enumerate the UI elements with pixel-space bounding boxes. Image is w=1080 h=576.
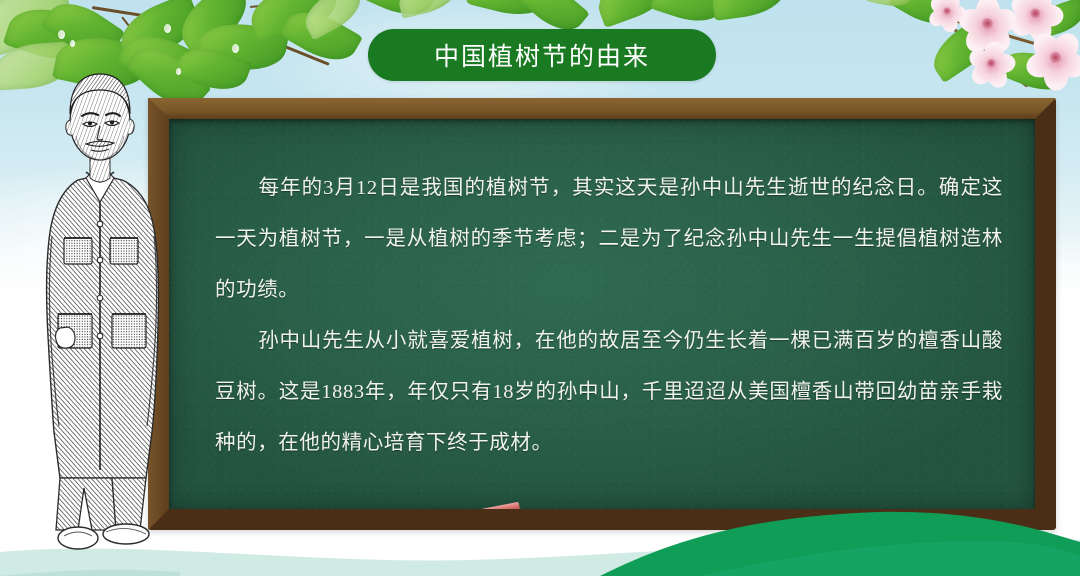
shoe-shape [103,524,149,544]
page-title-banner: 中国植树节的由来 [368,29,716,81]
blackboard-frame: 每年的3月12日是我国的植树节，其实这天是孙中山先生逝世的纪念日。确定这一天为植… [148,98,1056,530]
cherry-blossom-icon [968,40,1013,85]
cherry-blossom-icon [1025,27,1080,84]
hand-shape [56,327,76,348]
shoe-shape [58,527,98,549]
page-title: 中国植树节的由来 [434,37,650,73]
slide-canvas: 中国植树节的由来 每年的3月12日是我国的植树节，其实这天是孙中山先生逝世的纪念… [0,0,1080,576]
cherry-blossom-icon [928,0,965,28]
paragraph-1: 每年的3月12日是我国的植树节，其实这天是孙中山先生逝世的纪念日。确定这一天为植… [215,163,1003,316]
sun-yat-sen-portrait [16,60,192,560]
blackboard-content: 每年的3月12日是我国的植树节，其实这天是孙中山先生逝世的纪念日。确定这一天为植… [215,163,1003,469]
blackboard-surface: 每年的3月12日是我国的植树节，其实这天是孙中山先生逝世的纪念日。确定这一天为植… [169,119,1035,509]
paragraph-2: 孙中山先生从小就喜爱植树，在他的故居至今仍生长着一棵已满百岁的檀香山酸豆树。这是… [215,316,1003,469]
